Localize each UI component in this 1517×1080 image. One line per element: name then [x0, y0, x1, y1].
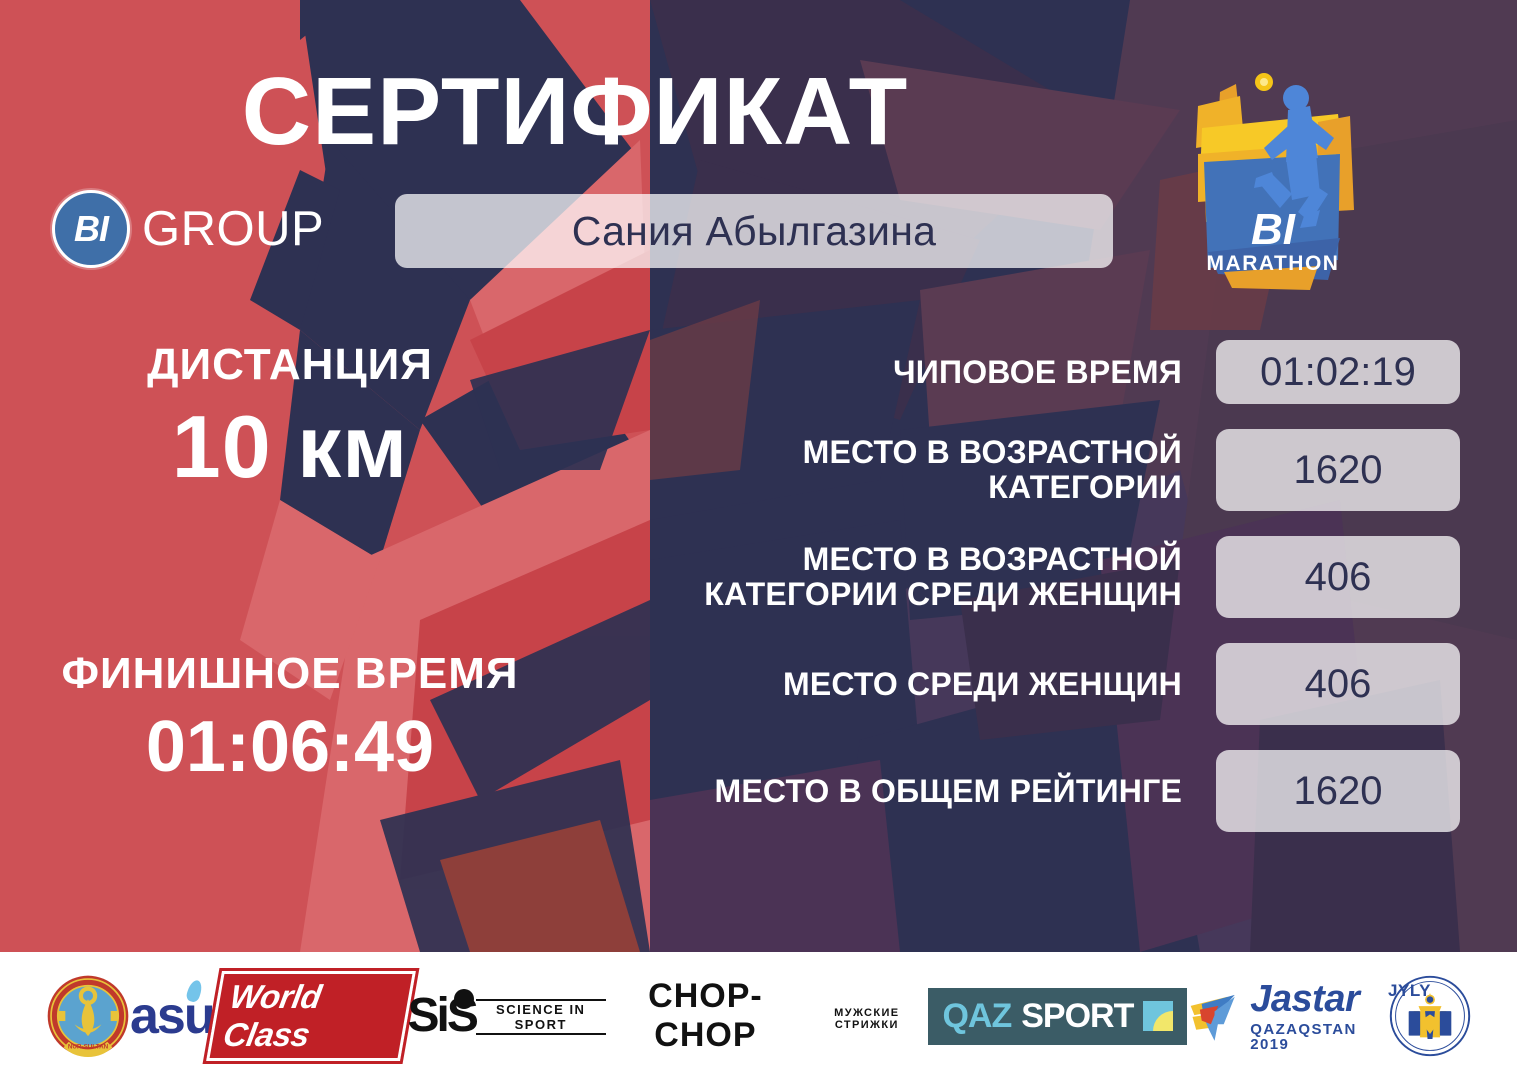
- finish-time-value: 01:06:49: [60, 706, 520, 788]
- stat-value-badge: 406: [1216, 643, 1460, 725]
- svg-text:NUR-SULTAN: NUR-SULTAN: [68, 1044, 109, 1051]
- distance-label: ДИСТАНЦИЯ: [60, 340, 520, 390]
- qazsport-square-icon: [1143, 1001, 1173, 1031]
- sponsor-qazsport: QAZ SPORT: [928, 988, 1187, 1045]
- distance-block: ДИСТАНЦИЯ 10 км: [60, 340, 520, 498]
- qazsport-sport-text: SPORT: [1021, 997, 1133, 1036]
- stat-value-badge: 1620: [1216, 750, 1460, 832]
- bi-logo-mark-icon: BI: [52, 190, 130, 268]
- marathon-title-text: BI: [1251, 205, 1296, 254]
- sponsor-world-class: World Class: [214, 971, 408, 1061]
- table-row: МЕСТО В ОБЩЕМ РЕЙТИНГЕ 1620: [600, 750, 1460, 832]
- qazsport-qaz-text: QAZ: [942, 997, 1011, 1036]
- stat-label: МЕСТО В ВОЗРАСТНОЙ КАТЕГОРИИ СРЕДИ ЖЕНЩИ…: [600, 542, 1216, 611]
- jastar-wordmark: Jastar: [1250, 978, 1359, 1020]
- chop-chop-wordmark: CHOP-CHOP: [606, 977, 806, 1055]
- finish-time-block: ФИНИШНОЕ ВРЕМЯ 01:06:49: [60, 650, 520, 788]
- world-class-wordmark: World Class: [220, 978, 324, 1053]
- jastar-arrow-icon: [1187, 985, 1244, 1047]
- table-row: МЕСТО СРЕДИ ЖЕНЩИН 406: [600, 643, 1460, 725]
- sponsor-jastar: Jastar JYLY QAZAQSTAN 2019: [1187, 980, 1389, 1052]
- stat-value-badge: 1620: [1216, 429, 1460, 511]
- bi-marathon-logo: BI MARATHON: [1168, 62, 1378, 294]
- marathon-subtitle-text: MARATHON: [1207, 252, 1340, 275]
- asu-wordmark: asu: [130, 987, 214, 1045]
- participant-name: Сания Абылгазина: [572, 208, 937, 255]
- distance-value: 10 км: [60, 396, 520, 498]
- participant-name-badge: Сания Абылгазина: [395, 194, 1113, 268]
- finish-time-label: ФИНИШНОЕ ВРЕМЯ: [60, 650, 520, 698]
- sponsor-sis: SiS SCIENCE IN SPORT: [408, 993, 606, 1039]
- results-list: ЧИПОВОЕ ВРЕМЯ 01:02:19 МЕСТО В ВОЗРАСТНО…: [600, 340, 1460, 857]
- bi-group-wordmark: GROUP: [142, 201, 324, 257]
- bi-marathon-logo-icon: BI MARATHON: [1168, 62, 1378, 294]
- stat-value-badge: 01:02:19: [1216, 340, 1460, 404]
- sponsor-asu: asu: [130, 990, 214, 1042]
- bi-logo-mark-text: BI: [74, 208, 108, 250]
- stat-label: МЕСТО СРЕДИ ЖЕНЩИН: [600, 667, 1216, 702]
- table-row: МЕСТО В ВОЗРАСТНОЙ КАТЕГОРИИ СРЕДИ ЖЕНЩИ…: [600, 536, 1460, 618]
- stat-label: ЧИПОВОЕ ВРЕМЯ: [600, 355, 1216, 390]
- stat-label: МЕСТО В ВОЗРАСТНОЙ КАТЕГОРИИ: [600, 435, 1216, 504]
- table-row: МЕСТО В ВОЗРАСТНОЙ КАТЕГОРИИ 1620: [600, 429, 1460, 511]
- sponsor-footer: NUR-SULTAN asu World Class SiS SCIENCE I…: [0, 952, 1517, 1080]
- certificate-page: BI GROUP СЕРТИФИКАТ Сания Абылгазина: [0, 0, 1517, 1080]
- chop-chop-tagline: МУЖСКИЕ СТРИЖКИ: [805, 1007, 928, 1031]
- sponsor-nur-sultan: NUR-SULTAN: [46, 974, 130, 1058]
- page-title: СЕРТИФИКАТ: [0, 62, 1150, 163]
- sponsor-chop-chop: CHOP-CHOP МУЖСКИЕ СТРИЖКИ: [606, 977, 929, 1055]
- nur-sultan-emblem-icon: NUR-SULTAN: [46, 974, 130, 1058]
- stat-label: МЕСТО В ОБЩЕМ РЕЙТИНГЕ: [600, 774, 1216, 809]
- table-row: ЧИПОВОЕ ВРЕМЯ 01:02:19: [600, 340, 1460, 404]
- jastar-jyly-text: JYLY: [1388, 982, 1431, 999]
- stat-value-badge: 406: [1216, 536, 1460, 618]
- sis-dot-icon: [454, 989, 474, 1009]
- bi-group-logo: BI GROUP: [52, 190, 324, 268]
- jastar-tagline: QAZAQSTAN 2019: [1250, 1022, 1389, 1052]
- sis-tagline: SCIENCE IN SPORT: [476, 999, 606, 1035]
